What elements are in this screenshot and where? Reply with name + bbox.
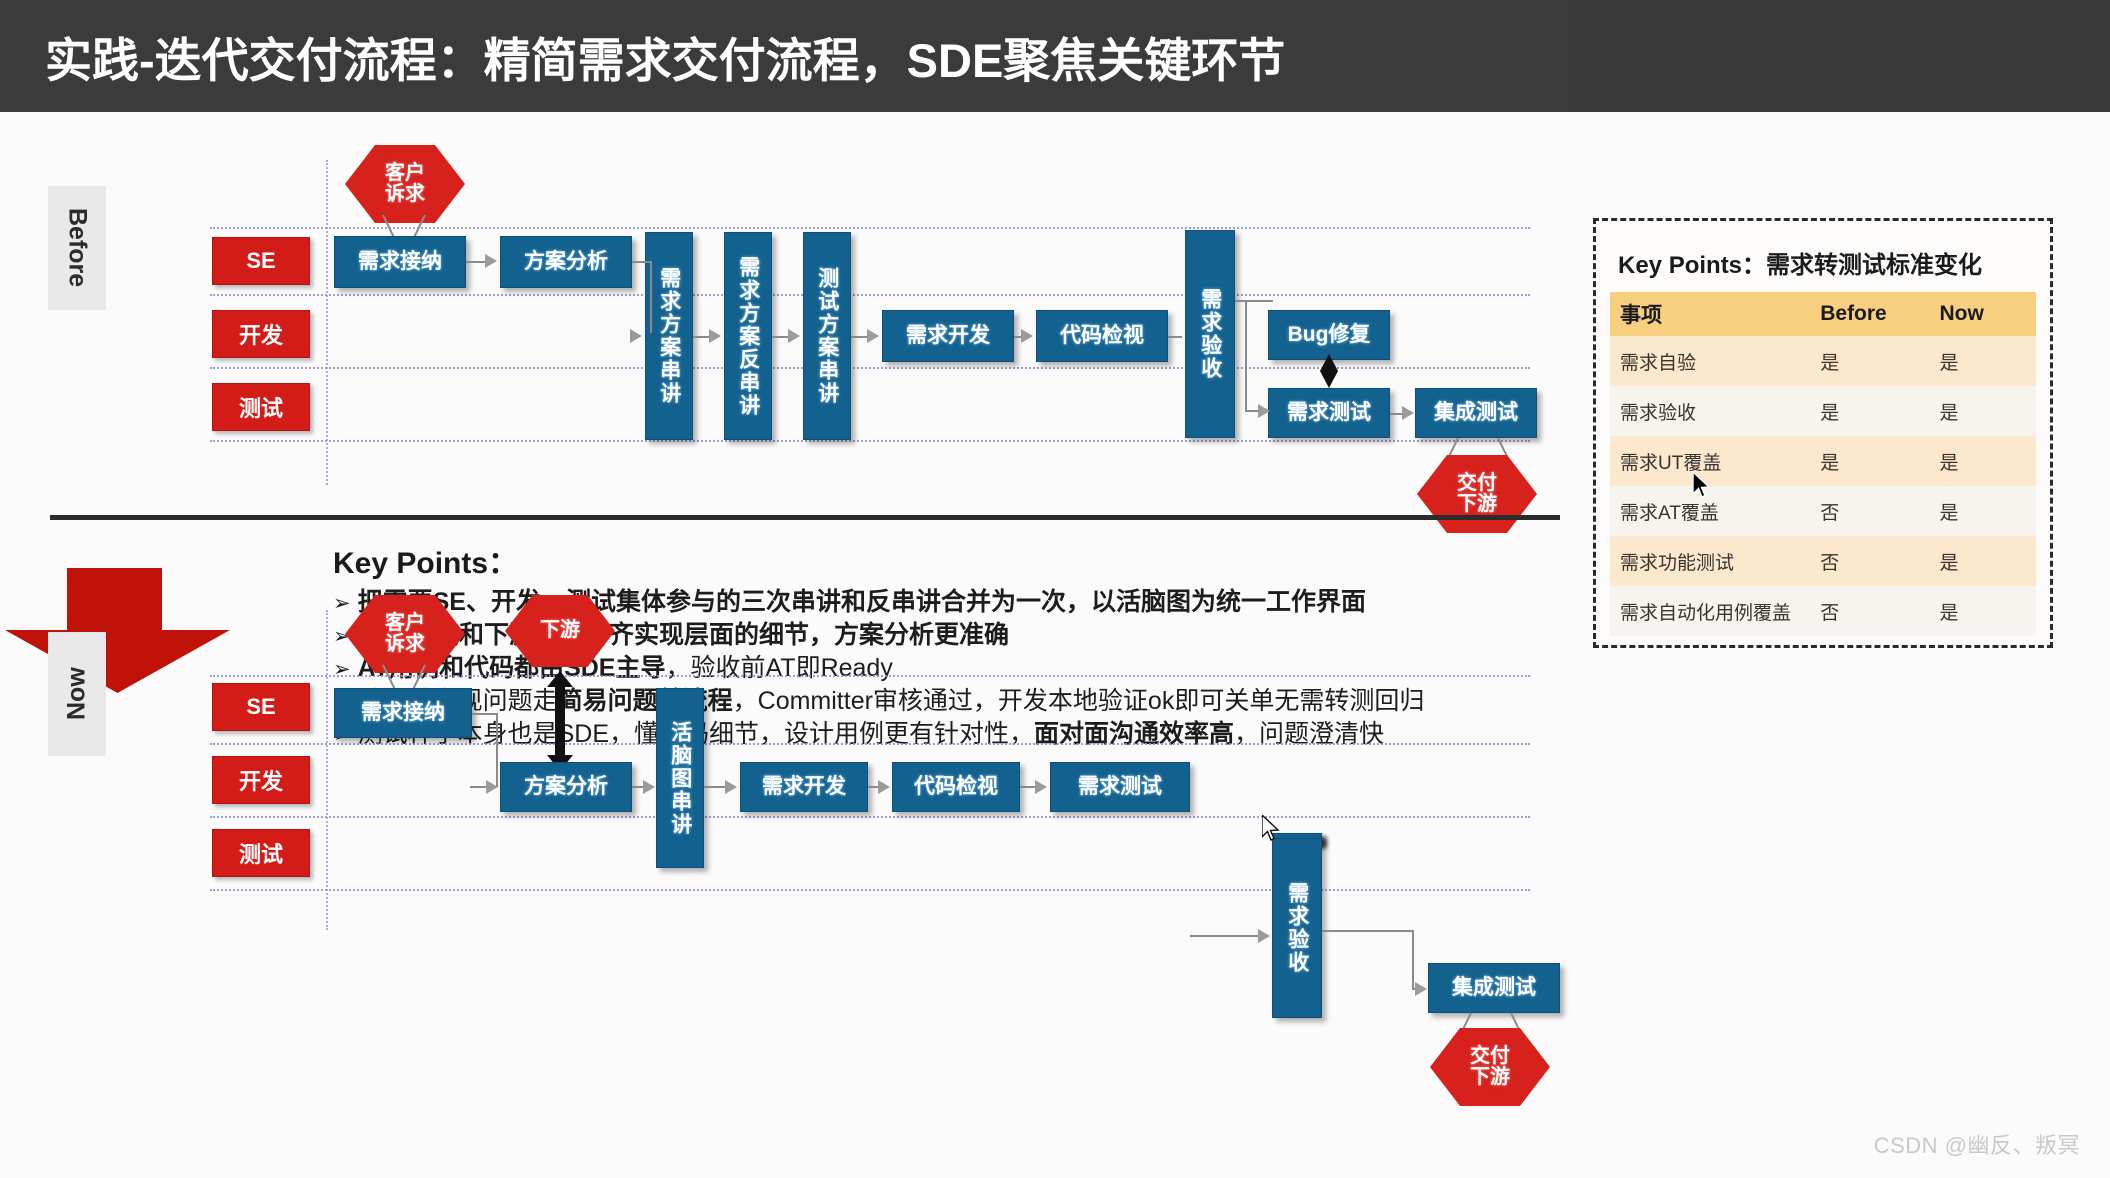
table-col-before: Before [1810, 292, 1929, 336]
table-col-item: 事项 [1610, 292, 1810, 336]
now-hexagon-customer-demand-label: 客户 诉求 [385, 613, 425, 655]
key-points-item-text: 验收前发现问题走简易问题单流程，Committer审核通过，开发本地验证ok即可… [358, 685, 1425, 718]
now-node-code-review: 代码检视 [892, 762, 1020, 812]
table-row: 需求自验是是 [1610, 336, 2036, 386]
now-conn-7v [1412, 930, 1414, 988]
table-cell-before: 否 [1810, 586, 1929, 636]
table-cell-now: 是 [1929, 586, 2036, 636]
table-cell-item: 需求功能测试 [1610, 536, 1810, 586]
table-header-row: 事项 Before Now [1610, 292, 2036, 336]
now-lane-tag-dev: 开发 [212, 756, 310, 804]
table-cell-item: 需求自验 [1610, 336, 1810, 386]
key-points-item: ➢AT用例和代码都由SDE主导，验收前AT即Ready [333, 652, 1553, 685]
before-lane-sep-bottom [210, 440, 1530, 442]
key-points-item-text: 测试种子本身也是SDE，懂代码细节，设计用例更有针对性，面对面沟通效率高，问题澄… [358, 718, 1384, 751]
table-row: 需求UT覆盖是是 [1610, 436, 2036, 486]
before-node-need-solution-walkthrough: 需求方案串讲 [645, 232, 693, 440]
table-row: 需求功能测试否是 [1610, 536, 2036, 586]
now-hexagon-downstream-label: 下游 [540, 620, 580, 641]
now-lane-tag-test: 测试 [212, 829, 310, 877]
before-hexagon-customer-demand: 客户 诉求 [345, 145, 465, 223]
table-cell-before: 是 [1810, 336, 1929, 386]
now-node-integration-testing: 集成测试 [1428, 963, 1560, 1013]
now-lane-sep-2 [210, 816, 1530, 818]
before-lane-tag-se: SE [212, 237, 310, 285]
now-arrow-7 [1415, 982, 1427, 996]
before-lane-sep-1 [210, 294, 1530, 296]
key-points-table-title: Key Points：需求转测试标准变化 [1618, 245, 2036, 280]
before-arrow-2 [630, 329, 642, 343]
slide-canvas: 实践-迭代交付流程：精简需求交付流程，SDE聚焦关键环节 Before SE 开… [0, 0, 2110, 1178]
table-col-now: Now [1929, 292, 2036, 336]
before-arrow-8 [1258, 404, 1270, 418]
now-arrow-3 [725, 780, 737, 794]
before-node-code-review: 代码检视 [1036, 310, 1168, 362]
key-points-item-text: 把需要SE、开发、测试集体参与的三次串讲和反串讲合并为一次，以活脑图为统一工作界… [358, 586, 1366, 619]
before-lane-tag-test: 测试 [212, 383, 310, 431]
before-node-need-intake: 需求接纳 [334, 236, 466, 288]
before-conn-2v [650, 261, 652, 333]
now-arrow-2 [643, 780, 655, 794]
transition-arrow-icon [5, 568, 230, 693]
before-arrow-10 [1402, 406, 1414, 420]
now-vertical-guide [326, 610, 328, 930]
now-lane-tag-se: SE [212, 683, 310, 731]
before-conn-7 [1168, 336, 1182, 338]
title-bar-right-fill [1568, 0, 2110, 112]
mouse-cursor-flow [1262, 815, 1282, 845]
before-node-solution-analysis: 方案分析 [500, 236, 632, 288]
bullet-icon: ➢ [333, 590, 351, 618]
before-arrow-5 [867, 329, 879, 343]
table-cell-now: 是 [1929, 486, 2036, 536]
key-points-table: 事项 Before Now 需求自验是是需求验收是是需求UT覆盖是是需求AT覆盖… [1610, 292, 2036, 636]
now-node-solution-analysis: 方案分析 [500, 762, 632, 812]
now-bidirectional-arrow [555, 685, 565, 757]
table-cell-now: 是 [1929, 386, 2036, 436]
now-arrow-6 [1258, 929, 1270, 943]
key-points-item: ➢把需要SE、开发、测试集体参与的三次串讲和反串讲合并为一次，以活脑图为统一工作… [333, 586, 1553, 619]
before-hexagon-deliver-downstream: 交付 下游 [1417, 455, 1537, 533]
table-cell-now: 是 [1929, 536, 2036, 586]
before-arrow-6 [1021, 329, 1033, 343]
page-title: 实践-迭代交付流程：精简需求交付流程，SDE聚焦关键环节 [45, 22, 1285, 91]
table-cell-now: 是 [1929, 336, 2036, 386]
before-conn-8v [1245, 300, 1247, 410]
before-conn-1 [466, 261, 486, 263]
key-points-table-card: Key Points：需求转测试标准变化 事项 Before Now 需求自验是… [1593, 218, 2053, 648]
before-node-need-testing: 需求测试 [1268, 388, 1390, 438]
now-conn-3 [704, 786, 726, 788]
before-vertical-guide [326, 160, 328, 485]
now-hexagon-deliver-downstream: 交付 下游 [1430, 1028, 1550, 1106]
table-cell-now: 是 [1929, 436, 2036, 486]
now-node-mindmap-walkthrough: 活脑图串讲 [656, 688, 704, 868]
key-points-list: ➢把需要SE、开发、测试集体参与的三次串讲和反串讲合并为一次，以活脑图为统一工作… [333, 586, 1553, 751]
before-conn-2 [632, 261, 652, 263]
now-node-need-testing: 需求测试 [1050, 762, 1190, 812]
table-cell-item: 需求验收 [1610, 386, 1810, 436]
table-row: 需求AT覆盖否是 [1610, 486, 2036, 536]
bullet-icon: ➢ [333, 656, 351, 684]
slide-title-bar: 实践-迭代交付流程：精简需求交付流程，SDE聚焦关键环节 [0, 0, 1568, 112]
before-arrow-1 [485, 254, 497, 268]
mouse-cursor-table [1693, 472, 1713, 502]
before-conn-9 [1235, 300, 1273, 302]
now-conn-6 [1190, 935, 1260, 937]
csdn-watermark: CSDN @幽反、叛冥 [1874, 1128, 2080, 1160]
now-node-need-development: 需求开发 [740, 762, 868, 812]
table-cell-item: 需求自动化用例覆盖 [1610, 586, 1810, 636]
now-node-need-intake: 需求接纳 [334, 688, 472, 738]
table-row: 需求自动化用例覆盖否是 [1610, 586, 2036, 636]
table-cell-before: 否 [1810, 486, 1929, 536]
before-node-need-acceptance: 需求验收 [1185, 230, 1235, 438]
table-row: 需求验收是是 [1610, 386, 2036, 436]
now-conn-7 [1322, 930, 1414, 932]
now-arrow-1 [486, 780, 498, 794]
before-arrow-3 [709, 329, 721, 343]
key-points-item: ➢验收前发现问题走简易问题单流程，Committer审核通过，开发本地验证ok即… [333, 685, 1553, 718]
before-hexagon-customer-demand-label: 客户 诉求 [385, 163, 425, 205]
section-divider [50, 515, 1560, 520]
now-arrow-5 [1035, 780, 1047, 794]
key-points-item: ➢测试种子本身也是SDE，懂代码细节，设计用例更有针对性，面对面沟通效率高，问题… [333, 718, 1553, 751]
now-lane-sep-1 [210, 743, 1530, 745]
before-node-bug-fix: Bug修复 [1268, 310, 1390, 360]
before-arrow-4 [788, 329, 800, 343]
before-node-need-solution-reverse-walkthrough: 需求方案反串讲 [724, 232, 772, 440]
table-cell-before: 是 [1810, 386, 1929, 436]
now-conn-1v [496, 713, 498, 787]
before-hexagon-deliver-downstream-label: 交付 下游 [1457, 473, 1497, 515]
now-lane-sep-bottom [210, 889, 1530, 891]
before-node-integration-testing: 集成测试 [1415, 388, 1537, 438]
table-body: 需求自验是是需求验收是是需求UT覆盖是是需求AT覆盖否是需求功能测试否是需求自动… [1610, 336, 2036, 636]
key-points-heading: Key Points： [333, 538, 1553, 582]
table-cell-before: 否 [1810, 536, 1929, 586]
now-arrow-4 [878, 780, 890, 794]
before-node-need-development: 需求开发 [882, 310, 1014, 362]
now-hexagon-deliver-downstream-label: 交付 下游 [1470, 1046, 1510, 1088]
now-node-need-acceptance: 需求验收 [1272, 838, 1322, 1018]
phase-label-now: Now [48, 632, 106, 756]
now-conn-1 [472, 713, 498, 715]
before-node-test-solution-walkthrough: 测试方案串讲 [803, 232, 851, 440]
phase-label-before: Before [48, 186, 106, 310]
now-conn-5 [1020, 786, 1036, 788]
table-cell-before: 是 [1810, 436, 1929, 486]
before-lane-tag-dev: 开发 [212, 310, 310, 358]
